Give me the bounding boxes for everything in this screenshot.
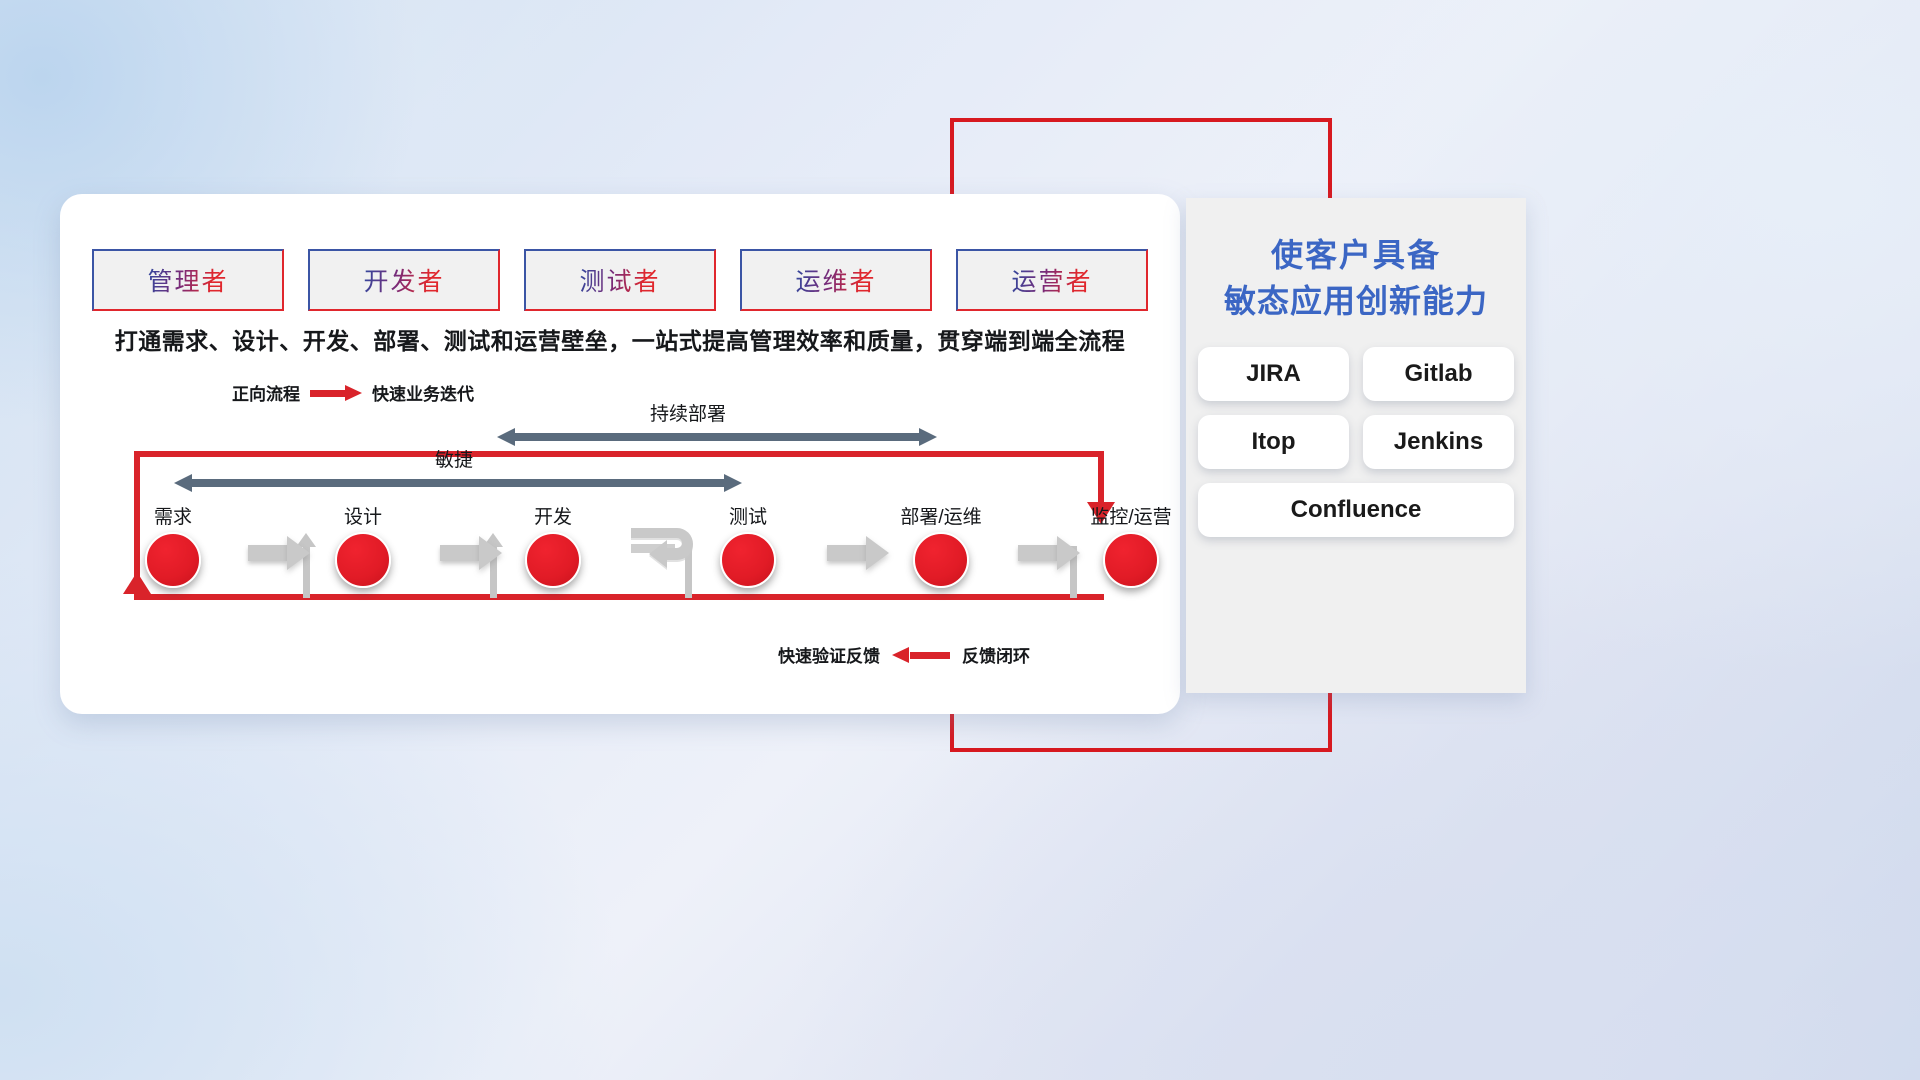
legend-forward-flow: 正向流程 快速业务迭代 [232, 380, 474, 405]
role-label: 测试者 [579, 262, 660, 298]
role-label: 开发者 [363, 262, 444, 298]
legend-forward-right-label: 快速业务迭代 [372, 380, 474, 405]
red-bracket-top [950, 118, 1332, 122]
main-diagram-card: 管理者 开发者 测试者 运维者 运营者 打通需求、设计、开发、部署、测试和运营壁… [60, 194, 1180, 714]
tool-card-jenkins[interactable]: Jenkins [1363, 415, 1514, 469]
stage-dot [525, 532, 581, 588]
double-arrow-continuous-deploy [497, 428, 937, 446]
tools-panel-title-line1: 使客户具备 [1186, 232, 1526, 278]
pipeline-stage-requirement[interactable]: 需求 [125, 502, 221, 588]
stage-dot [1103, 532, 1159, 588]
description-text: 打通需求、设计、开发、部署、测试和运营壁垒，一站式提高管理效率和质量，贯穿端到端… [60, 322, 1180, 356]
stage-label: 需求 [125, 502, 221, 529]
pipeline-stage-design[interactable]: 设计 [315, 502, 411, 588]
stage-label: 设计 [315, 502, 411, 529]
role-label: 管理者 [147, 262, 228, 298]
red-bracket-bottom [950, 748, 1332, 752]
span-label-continuous-deploy: 持续部署 [650, 399, 726, 426]
chevron-arrow-icon [827, 536, 889, 570]
pipeline-stage-deploy-ops[interactable]: 部署/运维 [893, 502, 989, 588]
chevron-arrow-icon [248, 536, 310, 570]
stage-label: 开发 [505, 502, 601, 529]
red-arrow-right-icon [310, 385, 362, 401]
red-arrow-left-icon [892, 647, 950, 663]
stage-label: 测试 [700, 502, 796, 529]
tool-card-jira[interactable]: JIRA [1198, 347, 1349, 401]
tools-panel-title-line2: 敏态应用创新能力 [1186, 278, 1526, 324]
role-box-row: 管理者 开发者 测试者 运维者 运营者 [92, 249, 1148, 311]
stage-label: 监控/运营 [1083, 502, 1179, 529]
role-box-developer[interactable]: 开发者 [308, 249, 500, 311]
slide-canvas: 管理者 开发者 测试者 运维者 运营者 打通需求、设计、开发、部署、测试和运营壁… [0, 0, 1920, 1080]
role-box-tester[interactable]: 测试者 [524, 249, 716, 311]
span-label-agile: 敏捷 [435, 445, 473, 472]
red-loop-top [134, 451, 1104, 457]
stage-dot [145, 532, 201, 588]
pipeline-stage-test[interactable]: 测试 [700, 502, 796, 588]
tool-card-gitlab[interactable]: Gitlab [1363, 347, 1514, 401]
stage-dot [913, 532, 969, 588]
legend-feedback-loop: 快速验证反馈 反馈闭环 [778, 642, 1030, 667]
role-box-ops[interactable]: 运维者 [740, 249, 932, 311]
legend-feedback-left-label: 快速验证反馈 [778, 642, 880, 667]
double-arrow-agile [174, 474, 742, 492]
tools-grid: JIRA Gitlab Itop Jenkins Confluence [1186, 347, 1526, 537]
stage-label: 部署/运维 [893, 502, 989, 529]
legend-forward-left-label: 正向流程 [232, 380, 300, 405]
role-box-manager[interactable]: 管理者 [92, 249, 284, 311]
role-label: 运营者 [1011, 262, 1092, 298]
legend-feedback-right-label: 反馈闭环 [962, 642, 1030, 667]
pipeline-stage-develop[interactable]: 开发 [505, 502, 601, 588]
tool-card-confluence[interactable]: Confluence [1198, 483, 1514, 537]
tools-panel: 使客户具备 敏态应用创新能力 JIRA Gitlab Itop Jenkins … [1186, 198, 1526, 693]
role-label: 运维者 [795, 262, 876, 298]
tools-panel-title: 使客户具备 敏态应用创新能力 [1186, 198, 1526, 325]
chevron-arrow-icon [440, 536, 502, 570]
tool-card-itop[interactable]: Itop [1198, 415, 1349, 469]
chevron-arrow-icon [1018, 536, 1080, 570]
stage-dot [335, 532, 391, 588]
role-box-operations[interactable]: 运营者 [956, 249, 1148, 311]
pipeline-stage-monitor-operations[interactable]: 监控/运营 [1083, 502, 1179, 588]
stage-dot [720, 532, 776, 588]
devops-pipeline: 需求 设计 开发 [100, 494, 1140, 604]
